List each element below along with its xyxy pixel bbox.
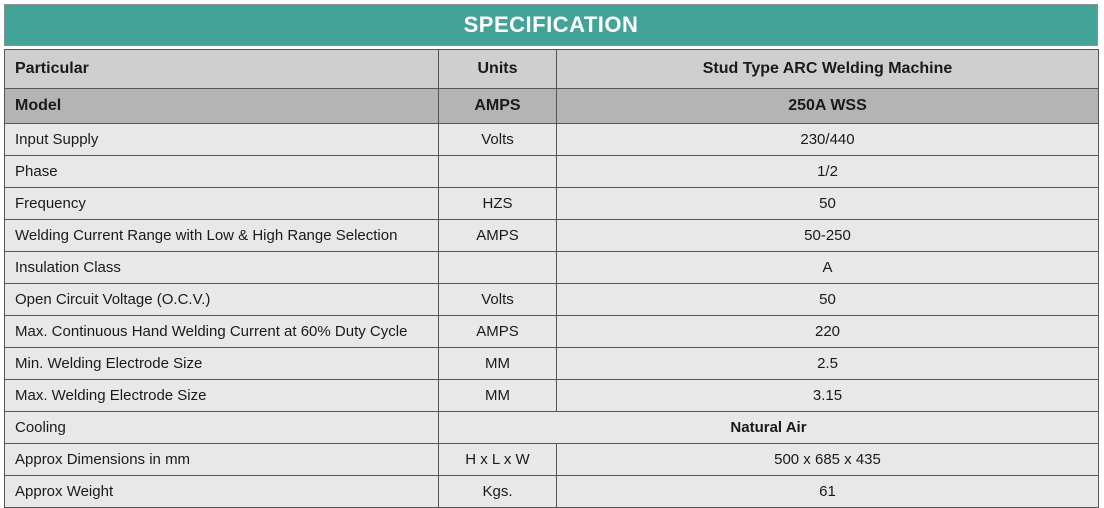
cell-value: 3.15 — [557, 380, 1099, 412]
cell-particular: Approx Weight — [5, 476, 439, 508]
cell-units: H x L x W — [439, 444, 557, 476]
cell-particular: Input Supply — [5, 124, 439, 156]
table-row: FrequencyHZS50 — [5, 188, 1099, 220]
table-row: Phase1/2 — [5, 156, 1099, 188]
table-row: Max. Welding Electrode SizeMM3.15 — [5, 380, 1099, 412]
cell-units: AMPS — [439, 220, 557, 252]
cell-particular: Phase — [5, 156, 439, 188]
table-row: Max. Continuous Hand Welding Current at … — [5, 316, 1099, 348]
cell-units — [439, 252, 557, 284]
cell-units: MM — [439, 348, 557, 380]
cell-particular: Insulation Class — [5, 252, 439, 284]
table-row: Input SupplyVolts230/440 — [5, 124, 1099, 156]
column-header-units: Units — [439, 50, 557, 89]
cell-units: AMPS — [439, 316, 557, 348]
cell-units — [439, 156, 557, 188]
cell-particular: Max. Continuous Hand Welding Current at … — [5, 316, 439, 348]
cell-value: A — [557, 252, 1099, 284]
table-row: Approx Dimensions in mmH x L x W500 x 68… — [5, 444, 1099, 476]
cell-units: Kgs. — [439, 476, 557, 508]
cell-particular: Min. Welding Electrode Size — [5, 348, 439, 380]
model-label: Model — [5, 89, 439, 124]
cell-units: MM — [439, 380, 557, 412]
table-row: Insulation ClassA — [5, 252, 1099, 284]
table-row: CoolingNatural Air — [5, 412, 1099, 444]
table-row: Approx WeightKgs.61 — [5, 476, 1099, 508]
cell-value: 220 — [557, 316, 1099, 348]
cell-value: 1/2 — [557, 156, 1099, 188]
cell-particular: Frequency — [5, 188, 439, 220]
cell-value: 50-250 — [557, 220, 1099, 252]
cell-value: 2.5 — [557, 348, 1099, 380]
specification-table: Particular Units Stud Type ARC Welding M… — [4, 49, 1099, 508]
model-units: AMPS — [439, 89, 557, 124]
model-value: 250A WSS — [557, 89, 1099, 124]
cell-value: 50 — [557, 284, 1099, 316]
table-body: Particular Units Stud Type ARC Welding M… — [5, 50, 1099, 508]
table-row: Welding Current Range with Low & High Ra… — [5, 220, 1099, 252]
cell-value: 61 — [557, 476, 1099, 508]
cell-particular: Welding Current Range with Low & High Ra… — [5, 220, 439, 252]
specification-title: SPECIFICATION — [464, 12, 639, 38]
cell-particular: Approx Dimensions in mm — [5, 444, 439, 476]
cell-particular: Max. Welding Electrode Size — [5, 380, 439, 412]
table-header-row: Particular Units Stud Type ARC Welding M… — [5, 50, 1099, 89]
table-row-model: Model AMPS 250A WSS — [5, 89, 1099, 124]
cell-particular: Open Circuit Voltage (O.C.V.) — [5, 284, 439, 316]
cell-units: Volts — [439, 124, 557, 156]
column-header-particular: Particular — [5, 50, 439, 89]
cell-units: HZS — [439, 188, 557, 220]
table-row: Open Circuit Voltage (O.C.V.)Volts50 — [5, 284, 1099, 316]
cell-value: 500 x 685 x 435 — [557, 444, 1099, 476]
cell-value-merged: Natural Air — [439, 412, 1099, 444]
specification-panel: SPECIFICATION Particular Units Stud Type… — [0, 0, 1104, 466]
specification-banner: SPECIFICATION — [4, 4, 1098, 46]
cell-units: Volts — [439, 284, 557, 316]
cell-value: 230/440 — [557, 124, 1099, 156]
column-header-value: Stud Type ARC Welding Machine — [557, 50, 1099, 89]
table-row: Min. Welding Electrode SizeMM2.5 — [5, 348, 1099, 380]
cell-particular: Cooling — [5, 412, 439, 444]
cell-value: 50 — [557, 188, 1099, 220]
